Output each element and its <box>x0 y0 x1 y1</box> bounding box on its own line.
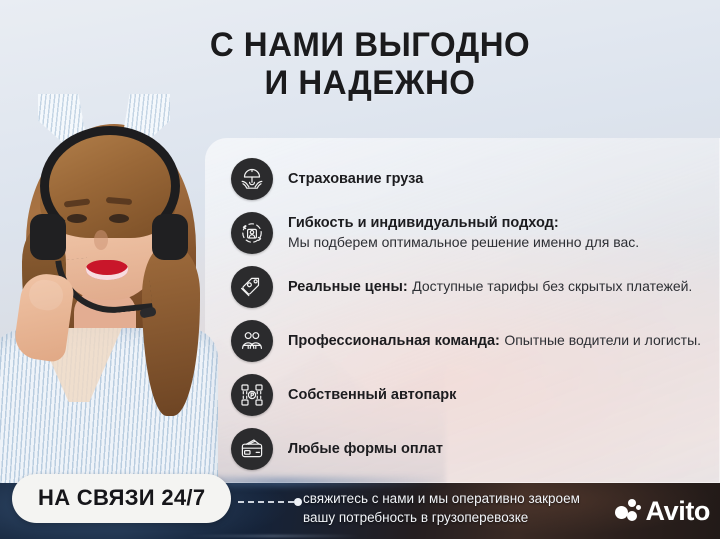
advert-banner: С НАМИ ВЫГОДНО И НАДЕЖНО Страхование гру… <box>0 0 720 539</box>
feature-title: Реальные цены: <box>288 279 408 295</box>
cta-line-2: вашу потребность в грузоперевозке <box>303 508 580 527</box>
feature-text: Профессиональная команда: Опытные водите… <box>288 331 701 350</box>
feature-text: Собственный автопарк <box>288 386 456 404</box>
cargo-insurance-icon <box>231 158 273 200</box>
headset-earcup-left <box>30 214 66 260</box>
feature-title: Любые формы оплат <box>288 441 443 457</box>
connector-dot <box>294 498 302 506</box>
features-panel: Страхование груза Гибкость и индивидуаль… <box>205 138 720 483</box>
fleet-parking-icon <box>231 374 273 416</box>
wallet-payment-icon <box>231 428 273 470</box>
feature-subtitle: Доступные тарифы без скрытых платежей. <box>412 278 692 294</box>
headline-line-2: И НАДЕЖНО <box>166 64 573 102</box>
price-tag-icon <box>231 266 273 308</box>
feature-text: Любые формы оплат <box>288 440 443 458</box>
connector-dashes <box>238 501 294 503</box>
status-badge: НА СВЯЗИ 24/7 <box>12 474 231 523</box>
feature-list: Страхование груза Гибкость и индивидуаль… <box>231 156 710 472</box>
operator-photo <box>0 96 218 516</box>
feature-subtitle: Опытные водители и логисты. <box>504 332 701 348</box>
avito-logo: Avito <box>615 498 711 525</box>
connector-line <box>238 498 302 506</box>
headset-earcup-right <box>152 214 188 260</box>
road-light-streak <box>187 535 360 537</box>
cta-line-1: свяжитесь с нами и мы оперативно закроем <box>303 489 580 508</box>
headline-line-1: С НАМИ ВЫГОДНО <box>210 26 530 64</box>
headline: С НАМИ ВЫГОДНО И НАДЕЖНО <box>166 26 573 103</box>
feature-text: Реальные цены: Доступные тарифы без скры… <box>288 277 692 296</box>
feature-title: Страхование груза <box>288 171 423 187</box>
team-icon <box>231 320 273 362</box>
flexible-approach-icon <box>231 212 273 254</box>
feature-title: Собственный автопарк <box>288 387 456 403</box>
feature-item: Любые формы оплат <box>231 426 710 472</box>
avito-wordmark: Avito <box>646 498 711 525</box>
feature-item: Профессиональная команда: Опытные водите… <box>231 318 710 364</box>
feature-subtitle: Мы подберем оптимальное решение именно д… <box>288 234 639 250</box>
cta-text: свяжитесь с нами и мы оперативно закроем… <box>303 489 580 527</box>
feature-text: Страхование груза <box>288 170 423 188</box>
feature-item: Реальные цены: Доступные тарифы без скры… <box>231 264 710 310</box>
feature-item: Страхование груза <box>231 156 710 202</box>
avito-dots-icon <box>615 499 641 525</box>
feature-title: Профессиональная команда: <box>288 333 500 349</box>
feature-title: Гибкость и индивидуальный подход: <box>288 215 559 231</box>
feature-item: Собственный автопарк <box>231 372 710 418</box>
feature-text: Гибкость и индивидуальный подход: Мы под… <box>288 214 710 251</box>
feature-item: Гибкость и индивидуальный подход: Мы под… <box>231 210 710 256</box>
